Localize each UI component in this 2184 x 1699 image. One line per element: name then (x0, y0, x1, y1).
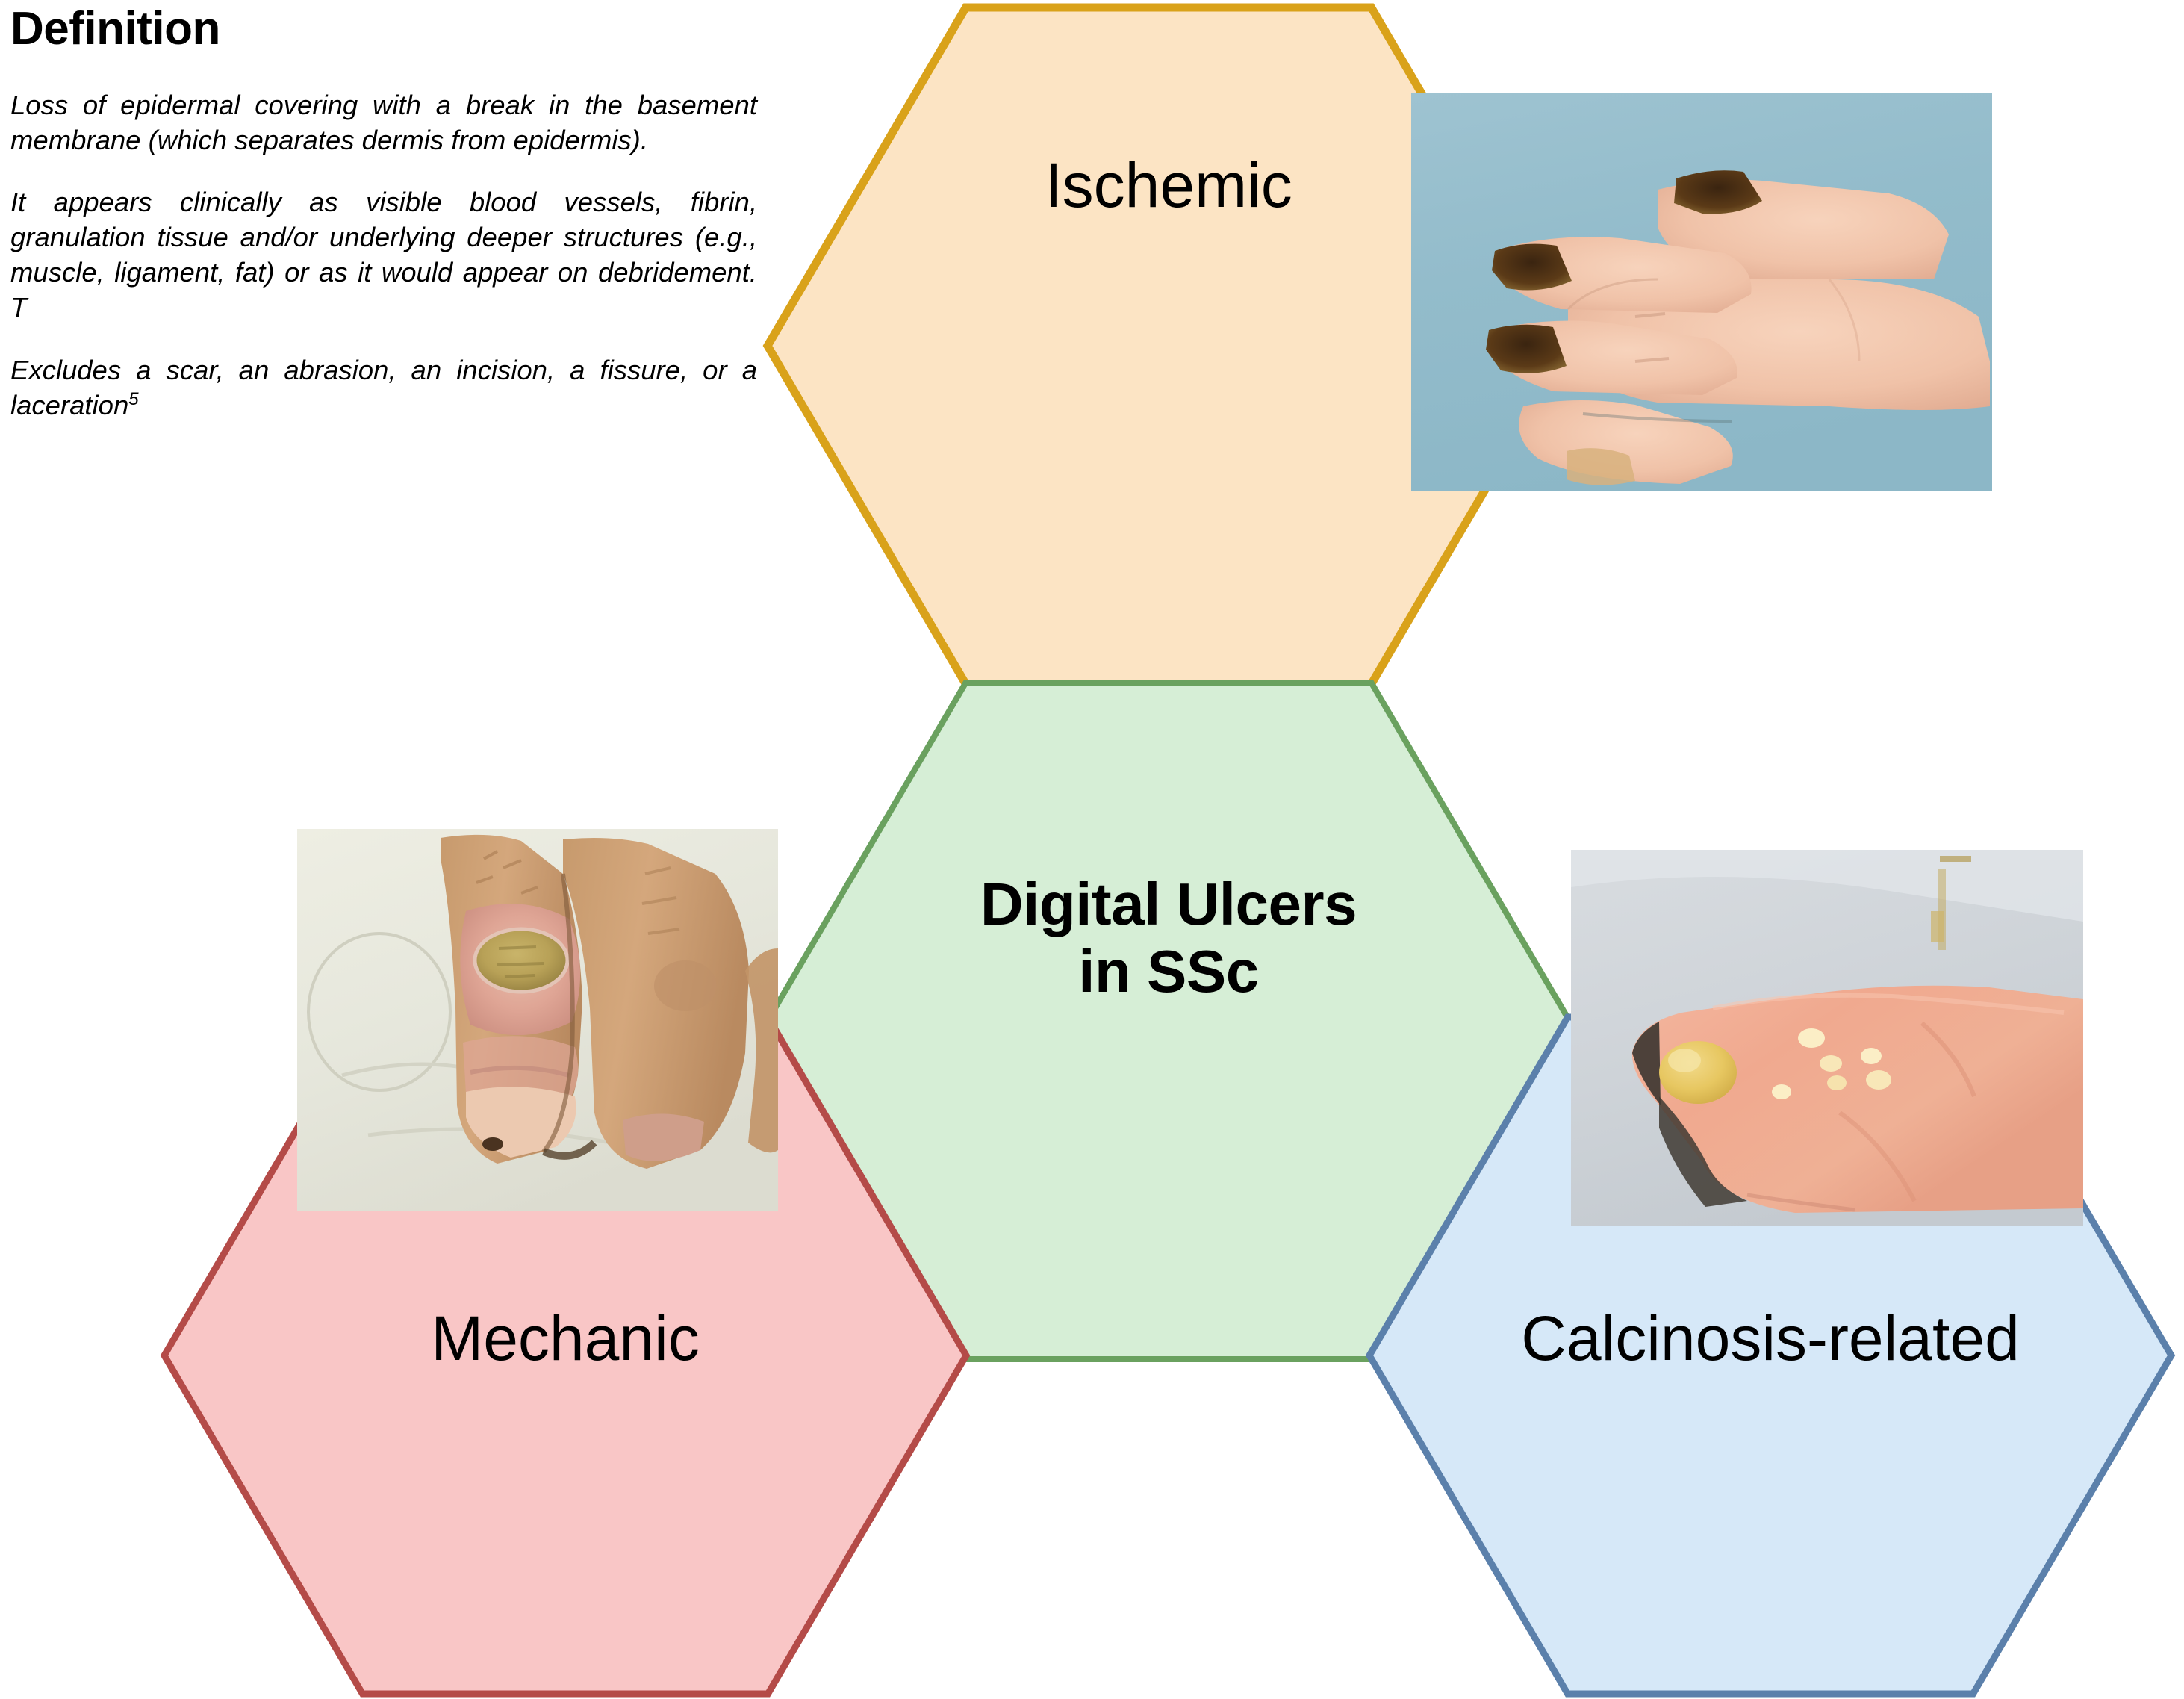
definition-paragraph-3: Excludes a scar, an abrasion, an incisio… (10, 352, 757, 423)
definition-footnote-marker: 5 (128, 388, 138, 409)
definition-paragraph-2: It appears clinically as visible blood v… (10, 184, 757, 325)
clinical-photo-ischemic-ulcers (1411, 93, 1992, 491)
diagram-canvas: Definition Loss of epidermal covering wi… (0, 0, 2184, 1699)
clinical-photo-mechanic-ulcer (297, 829, 778, 1211)
definition-title: Definition (10, 4, 757, 53)
clinical-photo-calcinosis (1571, 850, 2083, 1226)
definition-panel: Definition Loss of epidermal covering wi… (10, 4, 757, 423)
definition-paragraph-1: Loss of epidermal covering with a break … (10, 87, 757, 158)
definition-paragraph-3-text: Excludes a scar, an abrasion, an incisio… (10, 355, 757, 420)
